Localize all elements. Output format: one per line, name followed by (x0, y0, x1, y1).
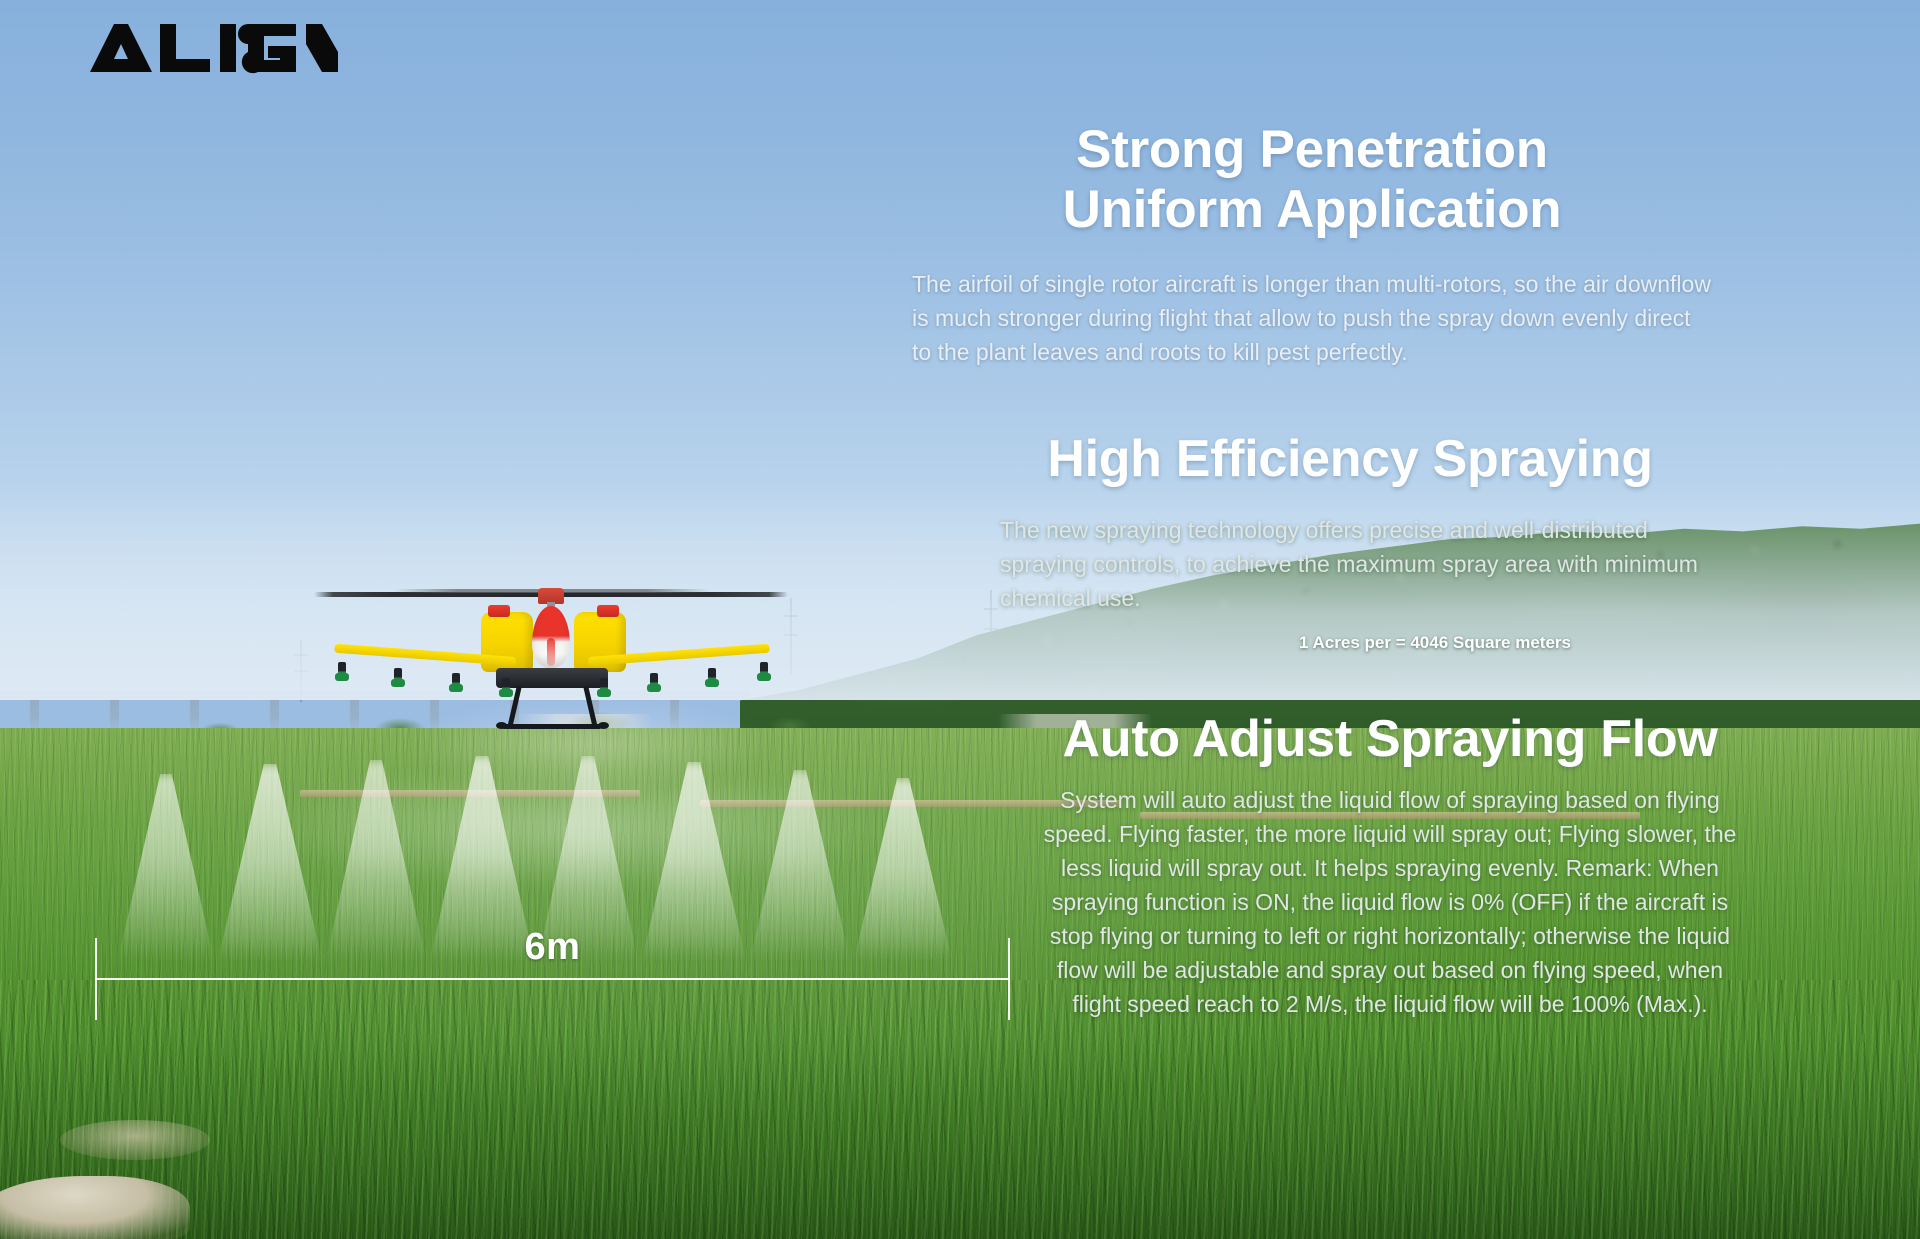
spray-nozzle (600, 678, 608, 696)
section-strong-penetration: Strong Penetration Uniform Application T… (912, 120, 1712, 369)
fuselage-frame (496, 668, 608, 688)
section-heading: Auto Adjust Spraying Flow (1040, 710, 1740, 769)
section-high-efficiency-spraying: High Efficiency Spraying The new sprayin… (1000, 430, 1700, 653)
dirt-patch (0, 1176, 190, 1239)
section-heading: Strong Penetration Uniform Application (912, 120, 1712, 241)
spray-nozzle (338, 662, 346, 680)
dimension-line (95, 978, 1010, 980)
landing-skid-rail (502, 724, 602, 729)
section-auto-adjust-spraying-flow: Auto Adjust Spraying Flow System will au… (1040, 710, 1740, 1021)
tank-cap-left (488, 605, 510, 617)
section-body-text: The airfoil of single rotor aircraft is … (912, 267, 1712, 369)
canopy-stripe (547, 638, 555, 666)
swath-width-dimension: 6m (95, 938, 1010, 1020)
section-body-text: The new spraying technology offers preci… (1000, 513, 1700, 615)
section-heading: High Efficiency Spraying (1000, 430, 1700, 489)
spray-pattern (0, 700, 1100, 960)
agricultural-helicopter (316, 578, 786, 730)
spray-nozzle (708, 668, 716, 686)
landing-skid-foot (598, 722, 609, 729)
spray-nozzle (650, 673, 658, 691)
align-logo (88, 22, 338, 74)
spray-nozzle (394, 668, 402, 686)
heading-line-2: Uniform Application (912, 180, 1712, 240)
poster-canvas: 6m Strong Penetration Uniform Applicatio… (0, 0, 1920, 1239)
spray-nozzle (760, 662, 768, 680)
spray-nozzle (452, 673, 460, 691)
tank-cap-right (597, 605, 619, 617)
dimension-label: 6m (95, 926, 1010, 969)
landing-skid-strut (583, 686, 597, 728)
landing-skid-foot (496, 722, 507, 729)
acre-conversion-note: 1 Acres per = 4046 Square meters (1000, 633, 1700, 653)
heading-line-1: Strong Penetration (912, 120, 1712, 180)
section-body-text: System will auto adjust the liquid flow … (1040, 783, 1740, 1021)
spray-nozzle (502, 678, 510, 696)
dirt-patch (60, 1120, 210, 1160)
